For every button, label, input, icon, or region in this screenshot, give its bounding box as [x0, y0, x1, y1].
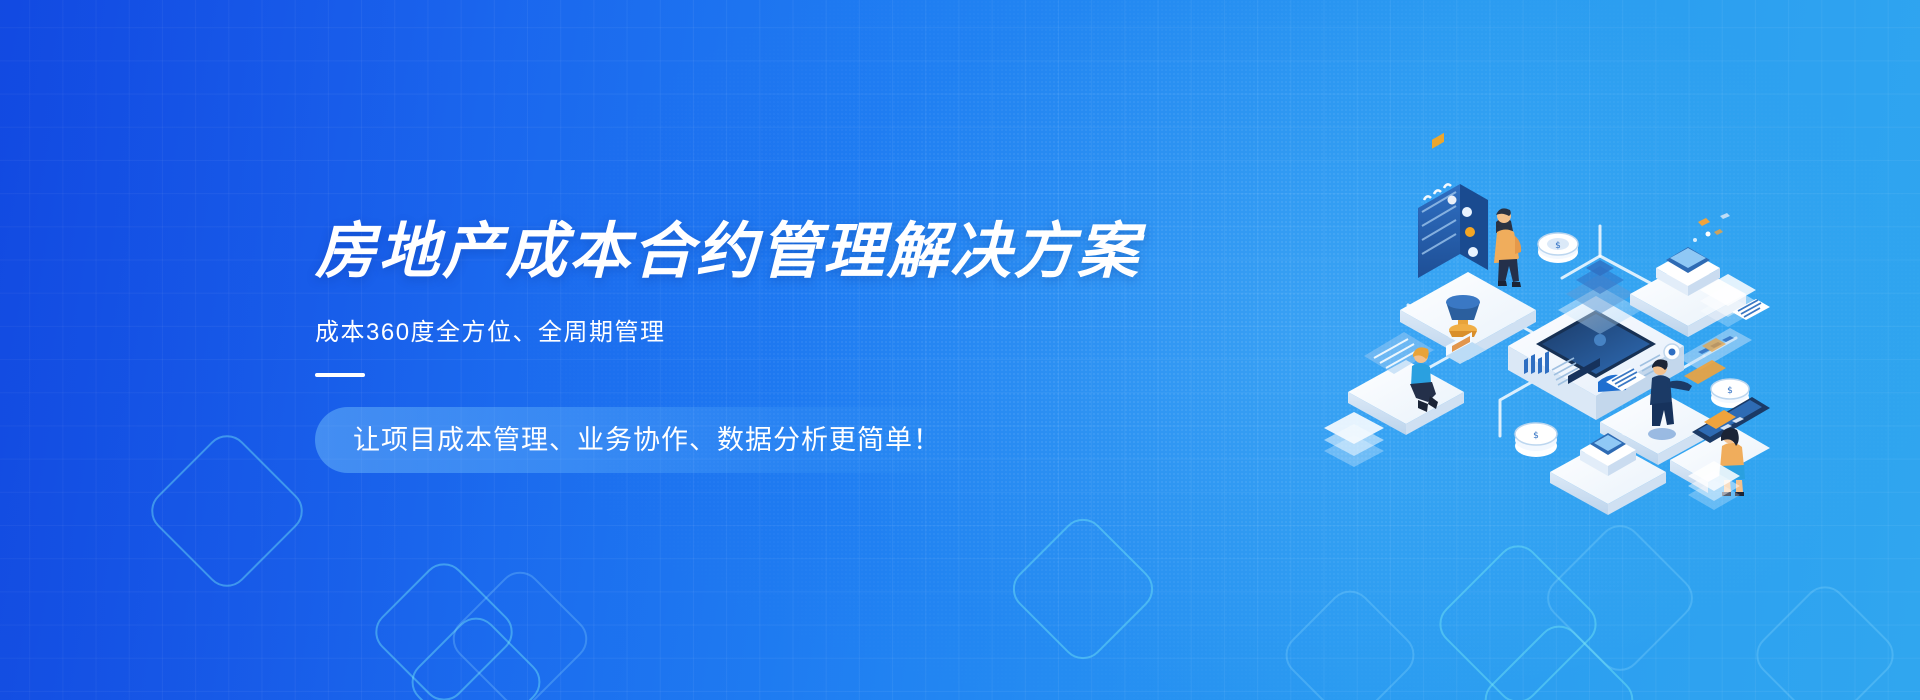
coin-stack-bottom: $ [1515, 423, 1557, 457]
confetti-particles [1693, 213, 1730, 242]
page-subtitle: 成本360度全方位、全周期管理 [315, 312, 1135, 347]
svg-text:$: $ [1727, 386, 1733, 396]
trophy [1446, 295, 1480, 337]
hero-content: 房地产成本合约管理解决方案 成本360度全方位、全周期管理 让项目成本管理、业务… [315, 220, 1135, 473]
floating-dashboard-right [1678, 328, 1752, 384]
hero-illustration: $ [1300, 160, 1770, 520]
tagline-pill: 让项目成本管理、业务协作、数据分析更简单！ [315, 407, 975, 473]
hero-banner: 房地产成本合约管理解决方案 成本360度全方位、全周期管理 让项目成本管理、业务… [0, 0, 1920, 700]
businessman-standing [1494, 208, 1521, 287]
layered-plates [1324, 412, 1384, 467]
svg-text:$: $ [1533, 431, 1539, 441]
page-title: 房地产成本合约管理解决方案 [315, 220, 1135, 284]
svg-text:$: $ [1555, 241, 1561, 251]
coin-stack-top: $ [1538, 233, 1578, 263]
title-divider [315, 373, 365, 377]
